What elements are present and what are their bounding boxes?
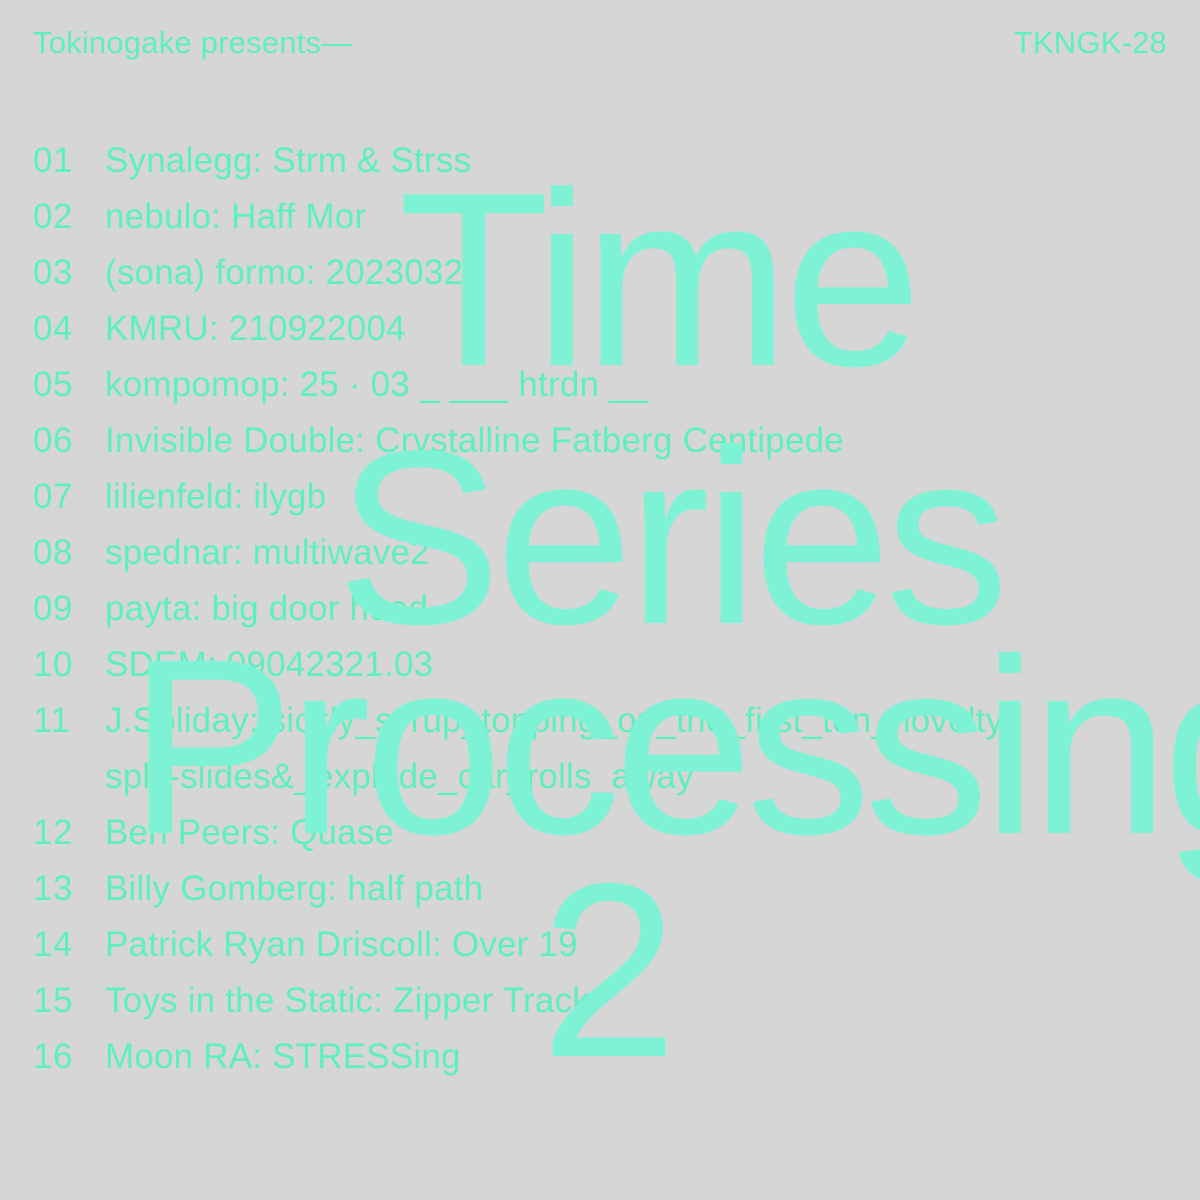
label-presents-text: Tokinogake presents— <box>33 26 352 60</box>
track-number: 13 <box>33 861 105 917</box>
track-number: 01 <box>33 133 105 189</box>
track-row: 11J.Soliday: sickly_syrup_topping_on_the… <box>33 693 1173 749</box>
track-title: Toys in the Static: Zipper Track <box>105 973 590 1029</box>
track-row: 15Toys in the Static: Zipper Track <box>33 973 1173 1029</box>
track-title: Billy Gomberg: half path <box>105 861 483 917</box>
track-row: split-slides&_explode_car_rolls_away <box>33 749 1173 805</box>
track-title: spednar: multiwave2 <box>105 525 430 581</box>
track-row: 03(sona) formo: 20230324 <box>33 245 1173 301</box>
track-title: Invisible Double: Crystalline Fatberg Ce… <box>105 413 844 469</box>
track-title: Ben Peers: Quase <box>105 805 394 861</box>
track-number: 08 <box>33 525 105 581</box>
catalog-number: TKNGK-28 <box>1014 26 1167 60</box>
track-row: 05kompomop: 25 · 03 _ ___ htrdn __ <box>33 357 1173 413</box>
track-row: 06Invisible Double: Crystalline Fatberg … <box>33 413 1173 469</box>
track-row: 12Ben Peers: Quase <box>33 805 1173 861</box>
track-row: 10SDEM: 09042321.03 <box>33 637 1173 693</box>
track-row: 16Moon RA: STRESSing <box>33 1029 1173 1085</box>
track-row: 04KMRU: 210922004 <box>33 301 1173 357</box>
tracklist: 01Synalegg: Strm & Strss02nebulo: Haff M… <box>33 133 1173 1085</box>
track-title: Moon RA: STRESSing <box>105 1029 461 1085</box>
track-number: 11 <box>33 693 105 749</box>
track-row: 07lilienfeld: ilygb <box>33 469 1173 525</box>
track-row: 08spednar: multiwave2 <box>33 525 1173 581</box>
track-row: 01Synalegg: Strm & Strss <box>33 133 1173 189</box>
track-number: 03 <box>33 245 105 301</box>
track-title: kompomop: 25 · 03 _ ___ htrdn __ <box>105 357 648 413</box>
track-title: Patrick Ryan Driscoll: Over 19 <box>105 917 578 973</box>
track-number: 05 <box>33 357 105 413</box>
track-title: lilienfeld: ilygb <box>105 469 326 525</box>
track-number: 09 <box>33 581 105 637</box>
track-number: 06 <box>33 413 105 469</box>
track-title: (sona) formo: 20230324 <box>105 245 483 301</box>
track-number: 07 <box>33 469 105 525</box>
track-title: KMRU: 210922004 <box>105 301 406 357</box>
track-title: SDEM: 09042321.03 <box>105 637 433 693</box>
track-title: split-slides&_explode_car_rolls_away <box>105 749 694 805</box>
track-number: 15 <box>33 973 105 1029</box>
track-title: payta: big door head <box>105 581 428 637</box>
track-number: 10 <box>33 637 105 693</box>
track-row: 09payta: big door head <box>33 581 1173 637</box>
track-title: nebulo: Haff Mor <box>105 189 366 245</box>
track-row: 14Patrick Ryan Driscoll: Over 19 <box>33 917 1173 973</box>
track-number: 16 <box>33 1029 105 1085</box>
poster-header: Tokinogake presents— TKNGK-28 <box>33 26 1167 74</box>
track-number: 04 <box>33 301 105 357</box>
track-number: 02 <box>33 189 105 245</box>
track-title: Synalegg: Strm & Strss <box>105 133 471 189</box>
track-number: 14 <box>33 917 105 973</box>
track-number: 12 <box>33 805 105 861</box>
track-title: J.Soliday: sickly_syrup_topping_on_the_f… <box>105 693 1003 749</box>
track-row: 02nebulo: Haff Mor <box>33 189 1173 245</box>
album-poster: Tokinogake presents— TKNGK-28 01Synalegg… <box>0 0 1200 1200</box>
track-row: 13Billy Gomberg: half path <box>33 861 1173 917</box>
